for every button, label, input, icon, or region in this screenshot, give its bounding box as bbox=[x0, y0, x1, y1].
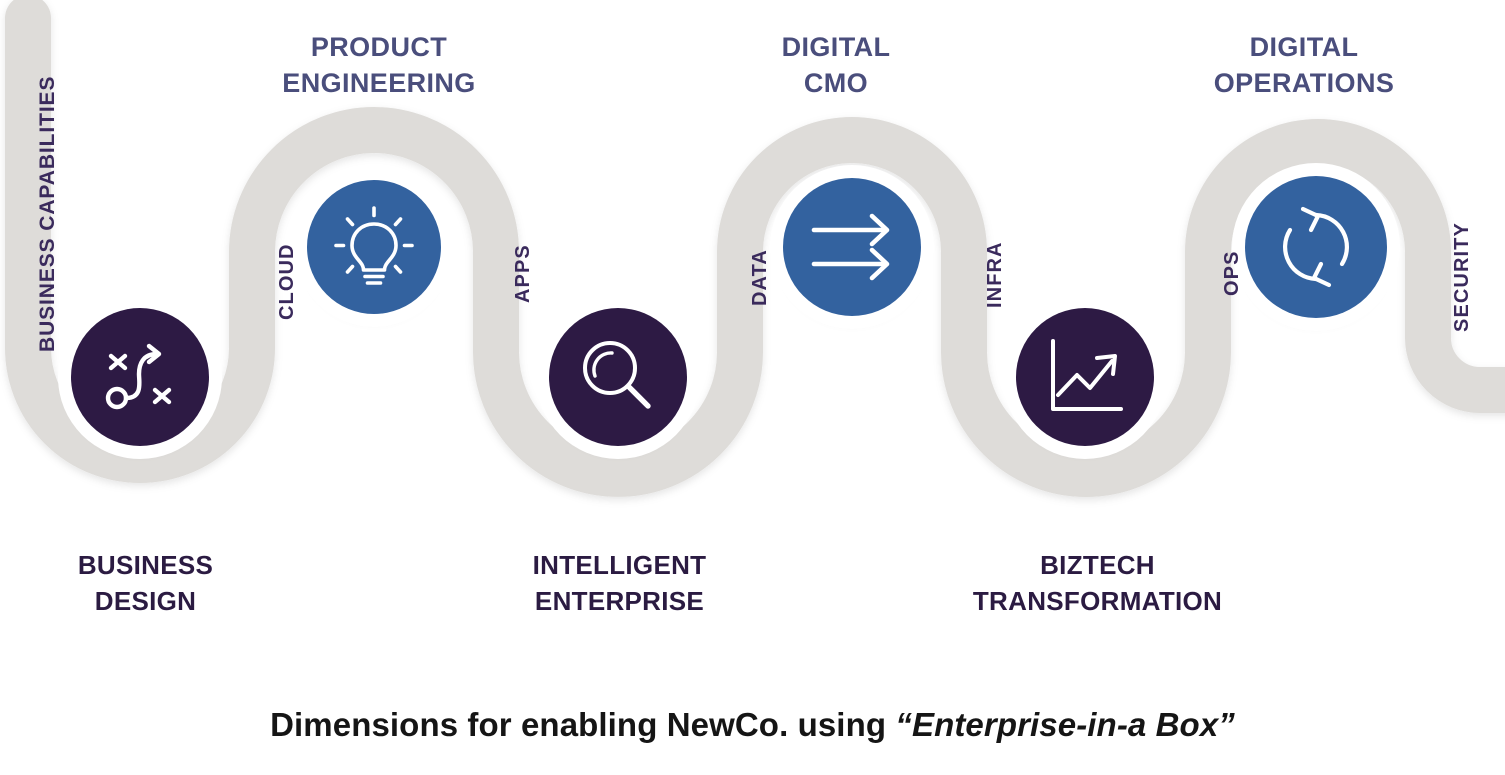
rail-label-apps: APPS bbox=[512, 244, 535, 303]
caption-quoted-text: “Enterprise-in-a Box” bbox=[895, 706, 1235, 743]
diagram-caption: Dimensions for enabling NewCo. using “En… bbox=[0, 706, 1505, 744]
rail-label-ops: OPS bbox=[1221, 250, 1244, 296]
node-digital-operations[interactable] bbox=[1245, 176, 1387, 318]
rail-label-infra: INFRA bbox=[984, 241, 1007, 308]
node-intelligent-enterprise[interactable] bbox=[549, 308, 687, 446]
strategy-icon bbox=[99, 336, 181, 418]
rail-label-security: SECURITY bbox=[1451, 222, 1474, 332]
magnifier-icon bbox=[575, 334, 661, 420]
valley-label-intelligent-enterprise: INTELLIGENT ENTERPRISE bbox=[492, 548, 747, 620]
node-biztech-transformation[interactable] bbox=[1016, 308, 1154, 446]
rail-label-cloud: CLOUD bbox=[276, 243, 299, 320]
rail-label-business-capabilities: BUSINESS CAPABILITIES bbox=[36, 76, 60, 352]
rail-label-data: DATA bbox=[749, 249, 772, 306]
node-digital-cmo[interactable] bbox=[783, 178, 921, 316]
refresh-icon bbox=[1270, 201, 1362, 293]
crest-label-digital-operations: DIGITAL OPERATIONS bbox=[1163, 30, 1445, 102]
infographic-canvas: PRODUCT ENGINEERING DIGITAL CMO DIGITAL … bbox=[0, 0, 1505, 775]
valley-label-business-design: BUSINESS DESIGN bbox=[18, 548, 273, 620]
growth-icon bbox=[1041, 333, 1129, 421]
node-product-engineering[interactable] bbox=[307, 180, 441, 314]
crest-label-product-engineering: PRODUCT ENGINEERING bbox=[243, 30, 515, 102]
caption-plain-text: Dimensions for enabling NewCo. using bbox=[270, 706, 895, 743]
node-business-design[interactable] bbox=[71, 308, 209, 446]
valley-label-biztech-transformation: BIZTECH TRANSFORMATION bbox=[945, 548, 1250, 620]
crest-label-digital-cmo: DIGITAL CMO bbox=[700, 30, 972, 102]
lightbulb-icon bbox=[331, 204, 417, 290]
arrows-icon bbox=[806, 201, 898, 293]
serpentine-ribbon bbox=[0, 0, 1505, 775]
